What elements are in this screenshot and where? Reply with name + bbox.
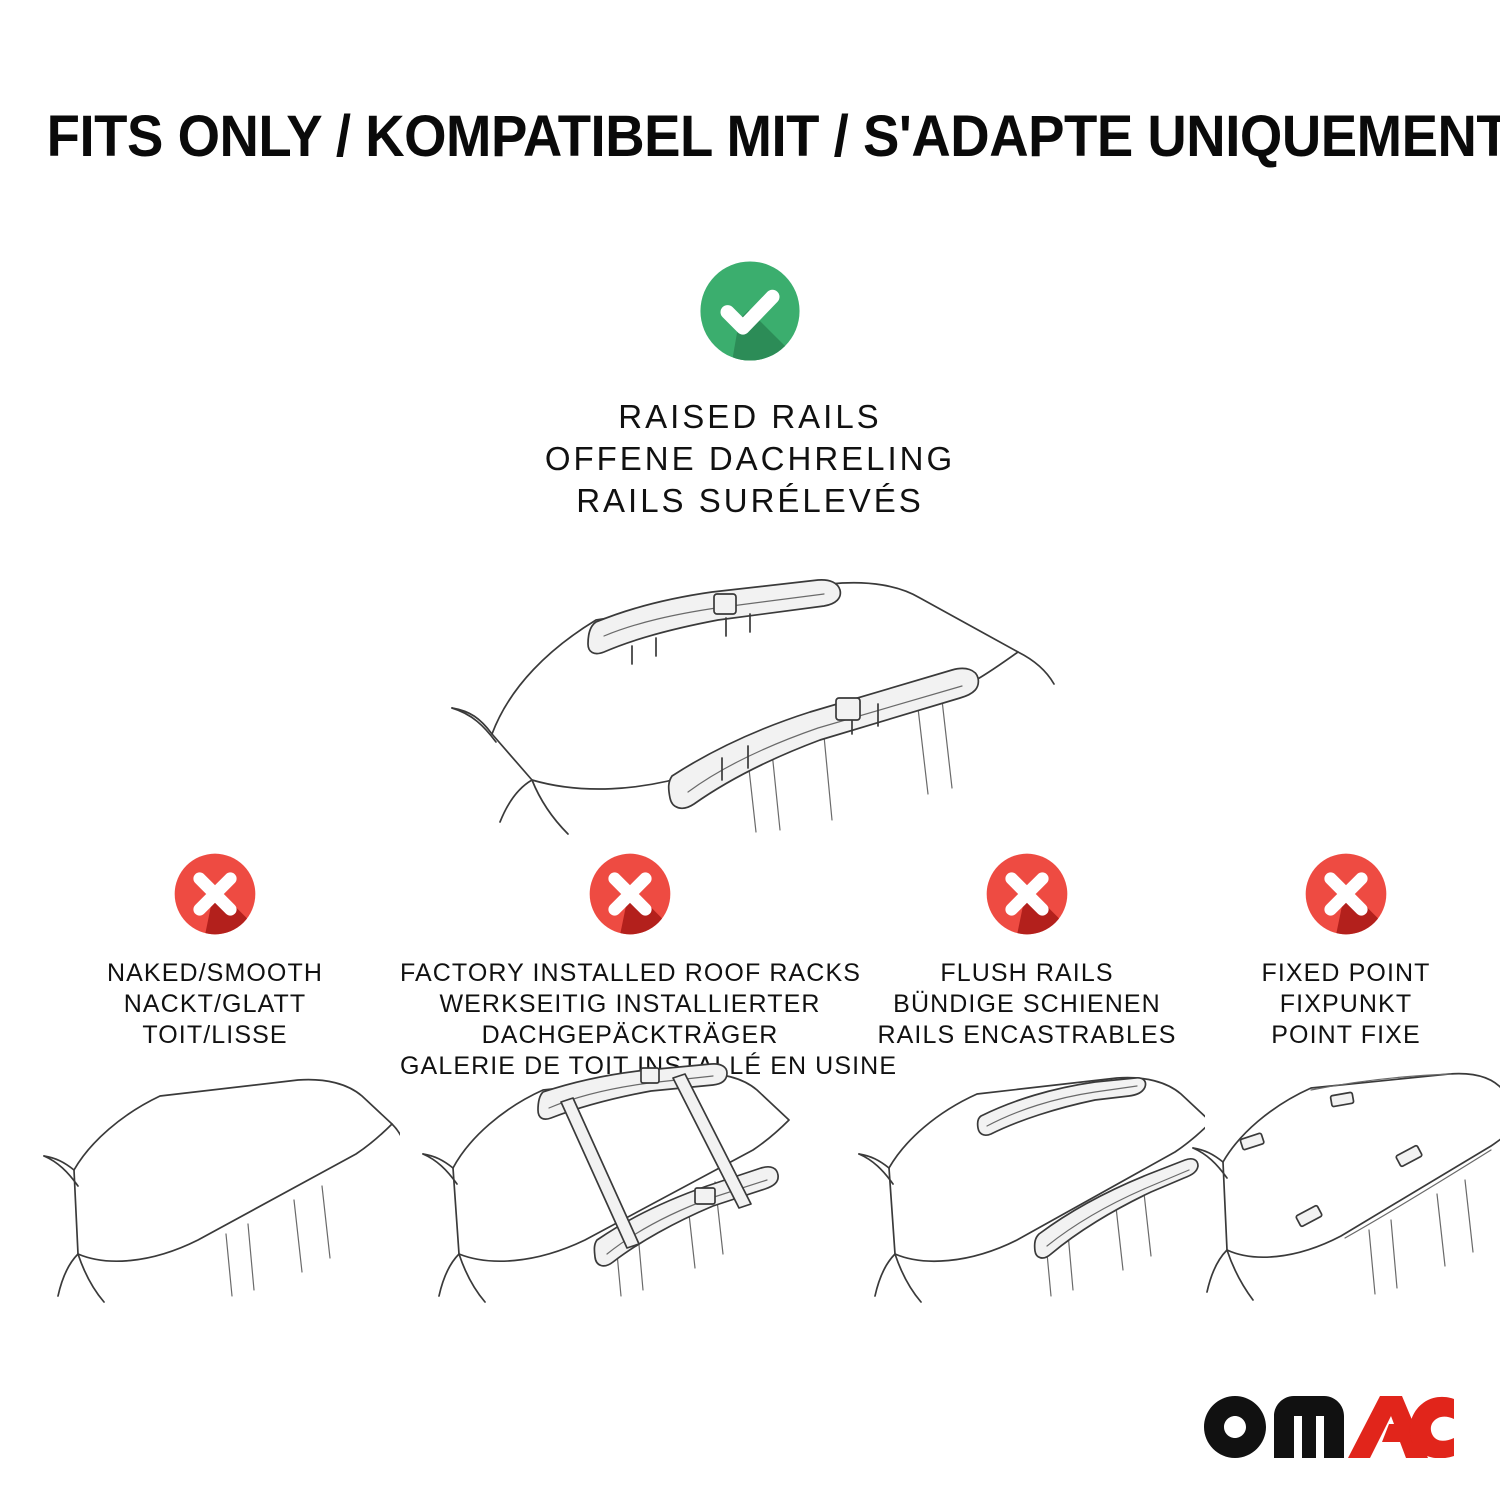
car-roof-flush-rails-illustration: [845, 1058, 1205, 1308]
incompatible-label: FLUSH RAILS BÜNDIGE SCHIENEN RAILS ENCAS…: [862, 958, 1192, 1051]
car-roof-naked-smooth-illustration: [30, 1058, 400, 1308]
car-roof-factory-roof-racks-illustration: [405, 1058, 805, 1308]
page-title: FITS ONLY / KOMPATIBEL MIT / S'ADAPTE UN…: [0, 104, 1500, 170]
car-roof-raised-rails-illustration: [400, 536, 1100, 836]
incompatible-label: FIXED POINT FIXPUNKT POINT FIXE: [1196, 958, 1496, 1051]
incompatible-option-factory-roof-racks: FACTORY INSTALLED ROOF RACKS WERKSEITIG …: [400, 846, 860, 1082]
incompatible-option-fixed-point: FIXED POINT FIXPUNKT POINT FIXE: [1196, 846, 1496, 1051]
cross-circle-icon: [1298, 846, 1394, 942]
check-circle-icon: [691, 252, 809, 370]
compatible-label: RAISED RAILS OFFENE DACHRELING RAILS SUR…: [0, 396, 1500, 522]
incompatible-option-naked-smooth: NAKED/SMOOTH NACKT/GLATT TOIT/LISSE: [40, 846, 390, 1051]
cross-circle-icon: [167, 846, 263, 942]
omac-logo-mark: [1204, 1396, 1454, 1458]
page-title-text: FITS ONLY / KOMPATIBEL MIT / S'ADAPTE UN…: [47, 104, 1500, 170]
incompatible-illustrations-row: [0, 1058, 1500, 1308]
cross-circle-icon: [582, 846, 678, 942]
incompatible-option-flush-rails: FLUSH RAILS BÜNDIGE SCHIENEN RAILS ENCAS…: [862, 846, 1192, 1051]
compatible-option-raised-rails: RAISED RAILS OFFENE DACHRELING RAILS SUR…: [0, 252, 1500, 836]
incompatible-label: NAKED/SMOOTH NACKT/GLATT TOIT/LISSE: [40, 958, 390, 1051]
omac-logo: OMAC: [1204, 1396, 1454, 1458]
car-roof-fixed-point-illustration: [1185, 1058, 1500, 1308]
cross-circle-icon: [979, 846, 1075, 942]
